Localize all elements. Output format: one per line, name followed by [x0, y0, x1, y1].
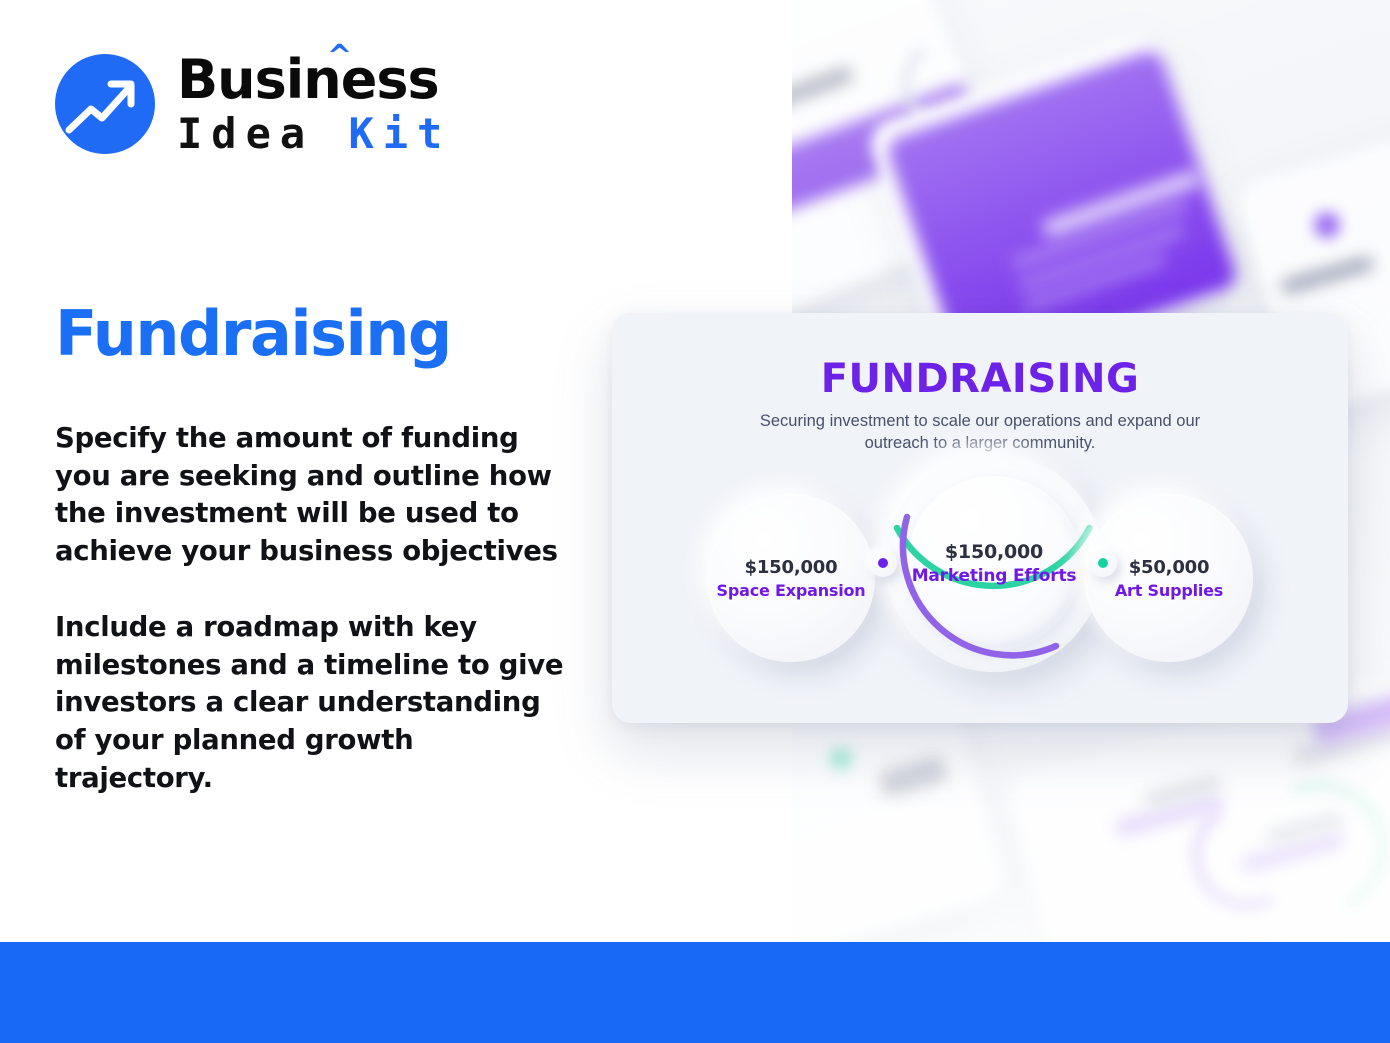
brand-name-line1-text: Business — [177, 48, 439, 111]
page-title: Fundraising — [55, 297, 451, 370]
node-amount: $50,000 — [1129, 557, 1210, 578]
fundraising-node-center[interactable]: $150,000 Marketing Efforts — [885, 454, 1103, 672]
slide-title: FUNDRAISING — [612, 356, 1348, 402]
brand-logo[interactable]: Business ^ Idea Kit — [55, 53, 451, 155]
connector-dot-purple-icon — [878, 558, 888, 568]
connector-joint-left[interactable] — [869, 549, 897, 577]
slide-page: Business ^ Idea Kit Fundraising Specify … — [0, 0, 1390, 1043]
node-category: Art Supplies — [1115, 581, 1223, 600]
brand-name-line2-word1: Idea — [177, 109, 314, 158]
brand-caret-icon: ^ — [327, 42, 351, 72]
brand-name-line2: Idea Kit — [177, 113, 451, 155]
brand-name-line2-word2: Kit — [348, 109, 451, 158]
connector-dot-green-icon — [1098, 558, 1108, 568]
node-amount: $150,000 — [745, 557, 838, 578]
slide-subtitle: Securing investment to scale our operati… — [745, 411, 1215, 455]
brand-name-line1: Business ^ — [177, 53, 451, 107]
description-paragraph-1: Specify the amount of funding you are se… — [55, 420, 571, 571]
fundraising-diagram: $150,000 Space Expansion $150,000 Market… — [612, 453, 1348, 715]
description-paragraph-2: Include a roadmap with key milestones an… — [55, 609, 571, 797]
fundraising-node-left[interactable]: $150,000 Space Expansion — [707, 494, 875, 662]
footer-bar — [0, 942, 1390, 1043]
node-amount: $150,000 — [912, 541, 1077, 563]
node-category: Marketing Efforts — [912, 566, 1077, 586]
connector-joint-right[interactable] — [1089, 549, 1117, 577]
slide-preview-card[interactable]: FUNDRAISING Securing investment to scale… — [612, 313, 1348, 723]
growth-arrow-icon — [55, 54, 155, 154]
fundraising-node-right[interactable]: $50,000 Art Supplies — [1085, 494, 1253, 662]
node-category: Space Expansion — [717, 581, 866, 600]
